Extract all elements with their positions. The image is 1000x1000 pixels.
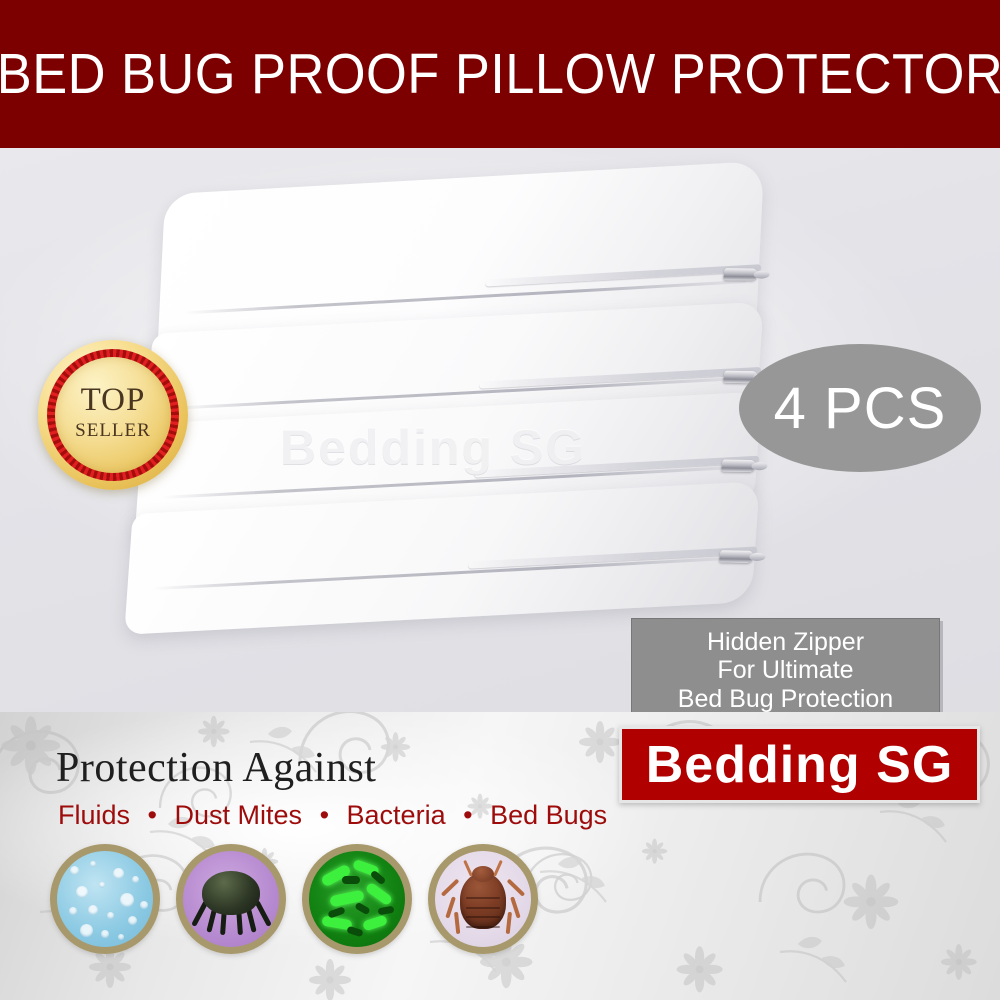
zipper-caption-line-2: For Ultimate xyxy=(632,656,939,684)
protection-items-list: Fluids • Dust Mites • Bacteria • Bed Bug… xyxy=(58,800,607,831)
hidden-zipper-caption: Hidden Zipper For Ultimate Bed Bug Prote… xyxy=(632,619,939,712)
top-seller-badge: TOP SELLER xyxy=(38,340,188,490)
zipper-pull-icon xyxy=(719,551,754,564)
protection-icons-row xyxy=(50,844,538,954)
product-showcase: Bedding SG TOP SELLER 4 PCS Size: 48 X 7… xyxy=(0,148,1000,712)
protection-title: Protection Against xyxy=(56,744,376,792)
hidden-zipper-panel: Hidden Zipper For Ultimate Bed Bug Prote… xyxy=(631,618,940,712)
zipper-pull-icon xyxy=(723,268,758,281)
protection-section: Protection Against Fluids • Dust Mites •… xyxy=(0,712,1000,1000)
badge-seller-label: SELLER xyxy=(75,417,151,446)
pillow-stack-image: Bedding SG xyxy=(130,168,790,688)
protection-item-label-dust-mites: Dust Mites xyxy=(175,800,303,830)
brand-logo-text: Bedding SG xyxy=(646,735,954,795)
pillow-seam xyxy=(152,557,742,591)
zipper-caption-line-3: Bed Bug Protection xyxy=(632,685,939,713)
bacteria-icon xyxy=(302,844,412,954)
page-title: BED BUG PROOF PILLOW PROTECTOR xyxy=(0,46,1000,103)
protection-item-label-fluids: Fluids xyxy=(58,800,130,830)
bullet-separator-icon: • xyxy=(310,800,339,830)
badge-face: TOP SELLER xyxy=(55,357,171,473)
zipper-pull-icon xyxy=(721,460,756,473)
product-advertisement: BED BUG PROOF PILLOW PROTECTOR xyxy=(0,0,1000,1000)
protection-item-label-bed-bugs: Bed Bugs xyxy=(490,800,607,830)
zipper-caption-line-1: Hidden Zipper xyxy=(632,628,939,656)
quantity-badge: 4 PCS xyxy=(739,344,981,472)
protection-item-label-bacteria: Bacteria xyxy=(347,800,446,830)
badge-top-label: TOP xyxy=(81,384,146,417)
bed-bug-icon xyxy=(428,844,538,954)
bullet-separator-icon: • xyxy=(138,800,167,830)
header-banner: BED BUG PROOF PILLOW PROTECTOR xyxy=(0,0,1000,148)
water-droplets-icon xyxy=(50,844,160,954)
quantity-label: 4 PCS xyxy=(774,375,947,442)
bullet-separator-icon: • xyxy=(453,800,482,830)
dust-mite-icon xyxy=(176,844,286,954)
brand-logo: Bedding SG xyxy=(619,726,980,803)
